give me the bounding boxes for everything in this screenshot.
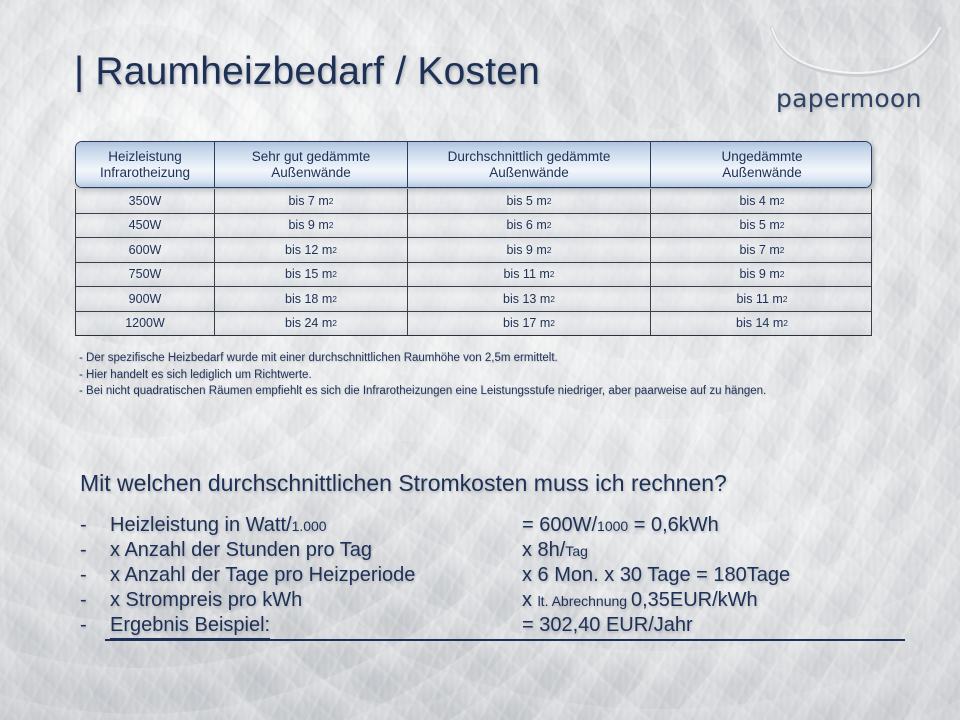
- logo-wordmark: papermoon: [776, 84, 922, 113]
- table-header-row: Heizleistung Infrarotheizung Sehr gut ge…: [75, 141, 872, 188]
- calculation-row-3: -x Strompreis pro kWhx lt. Abrechnung 0,…: [80, 589, 880, 614]
- calculation-label-1: x Anzahl der Stunden pro Tag: [110, 539, 522, 562]
- table-cell-r5-c1: bis 24 m2: [215, 312, 408, 336]
- header-line-3-0: Ungedämmte: [721, 149, 802, 165]
- value-text: x 8h/: [522, 539, 565, 561]
- calculation-row-2: -x Anzahl der Tage pro Heizperiodex 6 Mo…: [80, 564, 880, 589]
- table-row: 1200Wbis 24 m2bis 17 m2bis 14 m2: [76, 311, 871, 336]
- slide-canvas: | Raumheizbedarf / Kosten papermoon Heiz…: [0, 0, 960, 720]
- table-cell-r2-c2: bis 9 m2: [408, 238, 651, 262]
- header-line-3-1: Außenwände: [721, 165, 802, 181]
- calculation-label-0: Heizleistung in Watt/1.000: [110, 514, 522, 537]
- table-cell-r4-c3: bis 11 m2: [651, 287, 873, 311]
- calculation-row-0: -Heizleistung in Watt/1.000= 600W/1000 =…: [80, 514, 880, 539]
- table-cell-r5-c3: bis 14 m2: [651, 312, 873, 336]
- table-cell-r5-c2: bis 17 m2: [408, 312, 651, 336]
- bullet-dash: -: [80, 564, 110, 587]
- value-text: 0,35EUR/kWh: [631, 589, 758, 611]
- calculation-value-0: = 600W/1000 = 0,6kWh: [522, 514, 880, 537]
- value-text: = 0,6kWh: [628, 514, 719, 536]
- table-cell-r3-c3: bis 9 m2: [651, 263, 873, 287]
- table-cell-r0-c0: 350W: [76, 189, 215, 213]
- cost-calculation-list: -Heizleistung in Watt/1.000= 600W/1000 =…: [80, 514, 880, 639]
- header-line-2-0: Durchschnittlich gedämmte: [448, 149, 611, 165]
- calculation-label-3: x Strompreis pro kWh: [110, 589, 522, 612]
- value-text: x: [522, 589, 538, 611]
- value-subscript: 1000: [597, 518, 628, 534]
- crescent-moon-arc-icon: [768, 26, 944, 88]
- calculation-value-2: x 6 Mon. x 30 Tage = 180Tage: [522, 564, 880, 587]
- table-row: 750Wbis 15 m2bis 11 m2bis 9 m2: [76, 262, 871, 287]
- table-cell-r3-c1: bis 15 m2: [215, 263, 408, 287]
- footnote-2: - Bei nicht quadratischen Räumen empfieh…: [79, 383, 879, 400]
- header-line-0-1: Infrarotheizung: [100, 165, 190, 181]
- table-cell-r0-c3: bis 4 m2: [651, 189, 873, 213]
- table-cell-r2-c1: bis 12 m2: [215, 238, 408, 262]
- table-cell-r4-c0: 900W: [76, 287, 215, 311]
- value-text: = 302,40 EUR/Jahr: [522, 614, 693, 636]
- brand-logo: papermoon: [768, 26, 944, 118]
- header-line-2-1: Außenwände: [448, 165, 611, 181]
- table-row: 900Wbis 18 m2bis 13 m2bis 11 m2: [76, 286, 871, 311]
- bullet-dash: -: [80, 589, 110, 612]
- table-cell-r4-c1: bis 18 m2: [215, 287, 408, 311]
- table-body: 350Wbis 7 m2bis 5 m2bis 4 m2450Wbis 9 m2…: [75, 189, 872, 336]
- table-footnotes: - Der spezifische Heizbedarf wurde mit e…: [79, 350, 879, 400]
- table-row: 350Wbis 7 m2bis 5 m2bis 4 m2: [76, 189, 871, 213]
- calculation-value-1: x 8h/Tag: [522, 539, 880, 562]
- table-cell-r3-c2: bis 11 m2: [408, 263, 651, 287]
- table-cell-r2-c3: bis 7 m2: [651, 238, 873, 262]
- table-cell-r0-c1: bis 7 m2: [215, 189, 408, 213]
- value-subscript: Tag: [565, 543, 588, 559]
- table-cell-r1-c0: 450W: [76, 214, 215, 238]
- calculation-value-3: x lt. Abrechnung 0,35EUR/kWh: [522, 589, 880, 612]
- calculation-label-2: x Anzahl der Tage pro Heizperiode: [110, 564, 522, 587]
- footnote-0: - Der spezifische Heizbedarf wurde mit e…: [79, 350, 879, 367]
- heating-requirement-table: Heizleistung Infrarotheizung Sehr gut ge…: [75, 141, 872, 336]
- table-header-cell-1: Sehr gut gedämmte Außenwände: [215, 142, 408, 187]
- table-row: 450Wbis 9 m2bis 6 m2bis 5 m2: [76, 213, 871, 238]
- table-header-cell-3: Ungedämmte Außenwände: [651, 142, 872, 187]
- bullet-dash: -: [80, 614, 110, 637]
- calculation-label-4: Ergebnis Beispiel:: [110, 614, 522, 640]
- label-subscript: 1.000: [292, 518, 327, 534]
- value-text: = 600W/: [522, 514, 597, 536]
- table-header-cell-2: Durchschnittlich gedämmte Außenwände: [408, 142, 651, 187]
- value-text: x 6 Mon. x 30 Tage = 180Tage: [522, 564, 790, 586]
- table-cell-r0-c2: bis 5 m2: [408, 189, 651, 213]
- table-cell-r1-c2: bis 6 m2: [408, 214, 651, 238]
- calculation-row-4: -Ergebnis Beispiel:= 302,40 EUR/Jahr: [80, 614, 880, 639]
- footnote-1: - Hier handelt es sich lediglich um Rich…: [79, 367, 879, 384]
- table-cell-r4-c2: bis 13 m2: [408, 287, 651, 311]
- result-underline: [105, 639, 905, 641]
- calculation-row-1: -x Anzahl der Stunden pro Tagx 8h/Tag: [80, 539, 880, 564]
- header-line-0-0: Heizleistung: [100, 149, 190, 165]
- bullet-dash: -: [80, 514, 110, 537]
- table-cell-r2-c0: 600W: [76, 238, 215, 262]
- table-cell-r1-c3: bis 5 m2: [651, 214, 873, 238]
- table-header-cell-0: Heizleistung Infrarotheizung: [76, 142, 215, 187]
- header-line-1-1: Außenwände: [252, 165, 371, 181]
- value-subscript: lt. Abrechnung: [538, 593, 631, 609]
- table-cell-r1-c1: bis 9 m2: [215, 214, 408, 238]
- page-title: | Raumheizbedarf / Kosten: [74, 50, 540, 94]
- table-cell-r3-c0: 750W: [76, 263, 215, 287]
- section-question: Mit welchen durchschnittlichen Stromkost…: [80, 470, 727, 497]
- table-cell-r5-c0: 1200W: [76, 312, 215, 336]
- bullet-dash: -: [80, 539, 110, 562]
- calculation-value-4: = 302,40 EUR/Jahr: [522, 614, 880, 637]
- header-line-1-0: Sehr gut gedämmte: [252, 149, 371, 165]
- table-row: 600Wbis 12 m2bis 9 m2bis 7 m2: [76, 237, 871, 262]
